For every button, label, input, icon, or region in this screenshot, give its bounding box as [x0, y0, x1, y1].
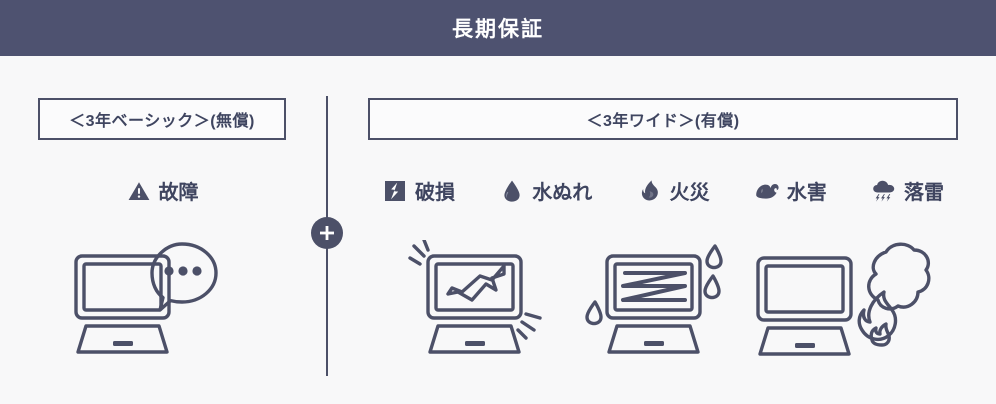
warranty-infographic: 長期保証 ＜3年ベーシック＞(無償) ＜3年ワイド＞(有償) — [0, 0, 996, 404]
hazard-item-lightning: 落雷 — [871, 176, 944, 205]
water-drop-icon — [499, 178, 525, 204]
plus-badge — [311, 217, 343, 249]
warning-triangle-icon — [126, 178, 152, 204]
hazard-item-flood: 水害 — [754, 176, 827, 205]
flame-icon — [637, 178, 663, 204]
laptop-on-fire-illustration — [752, 240, 938, 374]
plan-box-basic: ＜3年ベーシック＞(無償) — [38, 98, 286, 140]
plus-icon — [318, 224, 336, 242]
hazard-row-basic: 故障 — [38, 176, 286, 205]
hazard-item-water-wet: 水ぬれ — [499, 176, 592, 205]
laptop-cracked-screen-illustration — [408, 240, 558, 372]
storm-cloud-icon — [871, 178, 897, 204]
hazard-label: 故障 — [159, 176, 199, 205]
plan-box-wide: ＜3年ワイド＞(有償) — [368, 98, 958, 140]
plan-wide-label: ＜3年ワイド＞(有償) — [586, 107, 739, 131]
header-bar: 長期保証 — [0, 0, 996, 56]
page-title: 長期保証 — [452, 13, 544, 43]
plan-basic-label: ＜3年ベーシック＞(無償) — [69, 107, 255, 131]
hazard-label: 水ぬれ — [532, 176, 592, 205]
hazard-item-fire: 火災 — [637, 176, 710, 205]
hazard-label: 水害 — [787, 176, 827, 205]
hazard-row-wide: 破損 水ぬれ 火災 — [368, 176, 958, 205]
broken-screen-icon — [382, 178, 408, 204]
hazard-label: 火災 — [670, 176, 710, 205]
hazard-label: 落雷 — [904, 176, 944, 205]
hazard-label: 破損 — [415, 176, 455, 205]
wave-icon — [754, 178, 780, 204]
laptop-with-speech-bubble-illustration — [70, 240, 250, 372]
hazard-item-malfunction: 故障 — [126, 176, 199, 205]
hazard-item-damage: 破損 — [382, 176, 455, 205]
laptop-water-damage-illustration — [585, 240, 737, 372]
content-area: ＜3年ベーシック＞(無償) ＜3年ワイド＞(有償) — [0, 56, 996, 404]
